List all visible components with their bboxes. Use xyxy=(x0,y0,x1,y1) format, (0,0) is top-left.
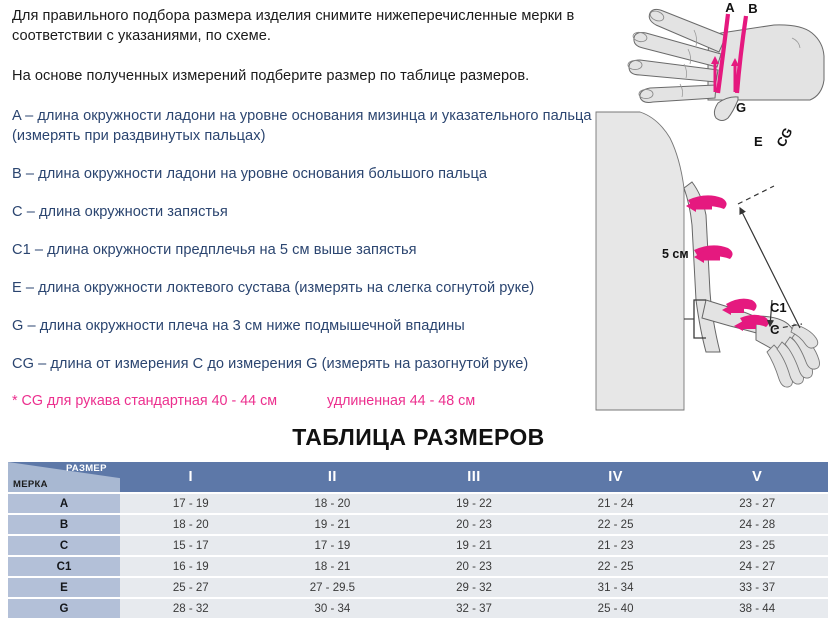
table-row: E 25 - 27 27 - 29.5 29 - 32 31 - 34 33 -… xyxy=(8,578,828,597)
corner-measure-label: МЕРКА xyxy=(13,479,48,490)
measurement-desc-cg: CG – длина от измерения C до измерения G… xyxy=(12,354,592,374)
size-table-title: ТАБЛИЦА РАЗМЕРОВ xyxy=(0,424,837,451)
cell-a-iii: 19 - 22 xyxy=(403,494,545,513)
diagram-label-g: G xyxy=(736,100,746,115)
instructions-panel: Для правильного подбора размера изделия … xyxy=(12,6,592,392)
column-header-v: V xyxy=(686,462,828,492)
row-label-b: B xyxy=(8,515,120,534)
cell-a-i: 17 - 19 xyxy=(120,494,262,513)
cell-e-iv: 31 - 34 xyxy=(545,578,687,597)
cell-b-v: 24 - 28 xyxy=(686,515,828,534)
cell-c-v: 23 - 25 xyxy=(686,536,828,555)
column-header-iii: III xyxy=(403,462,545,492)
cell-b-iii: 20 - 23 xyxy=(403,515,545,534)
cg-note-extended: удлиненная 44 - 48 см xyxy=(327,393,475,409)
table-row: C 15 - 17 17 - 19 19 - 21 21 - 23 23 - 2… xyxy=(8,536,828,555)
size-table-header-row: РАЗМЕР МЕРКА I II III IV V xyxy=(8,462,828,492)
cell-b-i: 18 - 20 xyxy=(120,515,262,534)
measurement-desc-g: G – длина окружности плеча на 3 см ниже … xyxy=(12,316,592,336)
measurement-desc-a: A – длина окружности ладони на уровне ос… xyxy=(12,106,592,146)
cg-note-standard: * CG для рукава стандартная 40 - 44 см xyxy=(12,393,277,409)
cell-e-iii: 29 - 32 xyxy=(403,578,545,597)
cell-g-v: 38 - 44 xyxy=(686,599,828,618)
cell-a-v: 23 - 27 xyxy=(686,494,828,513)
cell-b-ii: 19 - 21 xyxy=(262,515,404,534)
cell-g-iii: 32 - 37 xyxy=(403,599,545,618)
cell-c1-ii: 18 - 21 xyxy=(262,557,404,576)
diagram-label-c1: C1 xyxy=(770,300,787,315)
row-label-c1: C1 xyxy=(8,557,120,576)
cell-g-iv: 25 - 40 xyxy=(545,599,687,618)
column-header-iv: IV xyxy=(545,462,687,492)
measure-arrow-e xyxy=(694,245,733,263)
arm-illustration: 5 см G E CG C1 C xyxy=(596,100,820,410)
diagram-label-b: B xyxy=(748,1,757,16)
column-header-ii: II xyxy=(262,462,404,492)
cell-c1-iii: 20 - 23 xyxy=(403,557,545,576)
measurement-diagram: A B xyxy=(588,0,837,415)
corner-size-label: РАЗМЕР xyxy=(66,463,107,474)
cell-c-iii: 19 - 21 xyxy=(403,536,545,555)
diagram-label-5cm: 5 см xyxy=(662,247,689,261)
cell-c1-i: 16 - 19 xyxy=(120,557,262,576)
measurement-desc-c1: C1 – длина окружности предплечья на 5 см… xyxy=(12,240,592,260)
cell-c1-v: 24 - 27 xyxy=(686,557,828,576)
cell-c-i: 15 - 17 xyxy=(120,536,262,555)
diagram-label-a: A xyxy=(725,0,735,15)
measurement-desc-b: B – длина окружности ладони на уровне ос… xyxy=(12,164,592,184)
cg-sleeve-note: * CG для рукава стандартная 40 - 44 см у… xyxy=(12,393,612,409)
cell-c-ii: 17 - 19 xyxy=(262,536,404,555)
cell-e-i: 25 - 27 xyxy=(120,578,262,597)
row-label-c: C xyxy=(8,536,120,555)
cell-a-ii: 18 - 20 xyxy=(262,494,404,513)
diagram-label-e: E xyxy=(754,134,763,149)
hand-illustration: A B xyxy=(628,0,824,121)
size-table-body: A 17 - 19 18 - 20 19 - 22 21 - 24 23 - 2… xyxy=(8,494,828,618)
table-corner-cell: РАЗМЕР МЕРКА xyxy=(8,462,120,492)
cell-g-i: 28 - 32 xyxy=(120,599,262,618)
cell-c-iv: 21 - 23 xyxy=(545,536,687,555)
size-table-wrapper: РАЗМЕР МЕРКА I II III IV V A 17 - 19 18 … xyxy=(8,460,828,620)
cell-a-iv: 21 - 24 xyxy=(545,494,687,513)
table-row: B 18 - 20 19 - 21 20 - 23 22 - 25 24 - 2… xyxy=(8,515,828,534)
measurement-desc-c: C – длина окружности запястья xyxy=(12,202,592,222)
cell-e-v: 33 - 37 xyxy=(686,578,828,597)
size-table-head: РАЗМЕР МЕРКА I II III IV V xyxy=(8,462,828,492)
intro-paragraph-1: Для правильного подбора размера изделия … xyxy=(12,6,592,46)
row-label-a: A xyxy=(8,494,120,513)
cell-g-ii: 30 - 34 xyxy=(262,599,404,618)
intro-paragraph-2: На основе полученных измерений подберите… xyxy=(12,66,592,86)
diagram-label-cg: CG xyxy=(773,125,795,149)
row-label-e: E xyxy=(8,578,120,597)
size-table: РАЗМЕР МЕРКА I II III IV V A 17 - 19 18 … xyxy=(8,460,828,620)
table-row: C1 16 - 19 18 - 21 20 - 23 22 - 25 24 - … xyxy=(8,557,828,576)
cell-c1-iv: 22 - 25 xyxy=(545,557,687,576)
cell-b-iv: 22 - 25 xyxy=(545,515,687,534)
column-header-i: I xyxy=(120,462,262,492)
row-label-g: G xyxy=(8,599,120,618)
measurement-desc-e: E – длина окружности локтевого сустава (… xyxy=(12,278,592,298)
table-row: A 17 - 19 18 - 20 19 - 22 21 - 24 23 - 2… xyxy=(8,494,828,513)
cell-e-ii: 27 - 29.5 xyxy=(262,578,404,597)
diagram-label-c: C xyxy=(770,322,780,337)
diagram-svg: A B xyxy=(588,0,837,415)
table-row: G 28 - 32 30 - 34 32 - 37 25 - 40 38 - 4… xyxy=(8,599,828,618)
